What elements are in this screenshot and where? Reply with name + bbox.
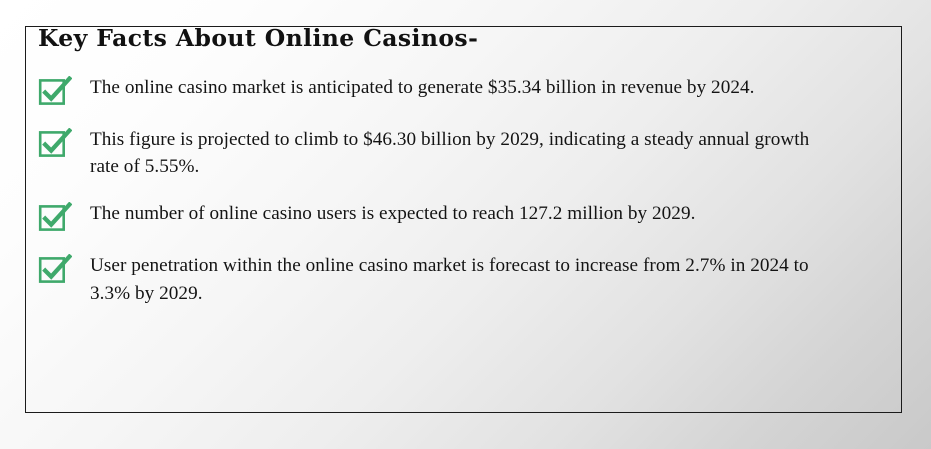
list-item: The online casino market is anticipated … bbox=[38, 74, 911, 106]
check-square-icon bbox=[38, 252, 90, 284]
fact-text: This figure is projected to climb to $46… bbox=[90, 126, 835, 181]
check-square-icon bbox=[38, 74, 90, 106]
facts-list: The online casino market is anticipated … bbox=[38, 74, 911, 307]
check-square-icon bbox=[38, 126, 90, 158]
page-title: Key Facts About Online Casinos- bbox=[38, 26, 911, 52]
list-item: The number of online casino users is exp… bbox=[38, 200, 911, 232]
fact-card-content: Key Facts About Online Casinos- The onli… bbox=[38, 26, 911, 307]
infographic-canvas: Key Facts About Online Casinos- The onli… bbox=[0, 0, 931, 449]
list-item: User penetration within the online casin… bbox=[38, 252, 911, 307]
list-item: This figure is projected to climb to $46… bbox=[38, 126, 911, 181]
check-square-icon bbox=[38, 200, 90, 232]
fact-text: The online casino market is anticipated … bbox=[90, 74, 754, 101]
fact-text: User penetration within the online casin… bbox=[90, 252, 835, 307]
fact-text: The number of online casino users is exp… bbox=[90, 200, 695, 227]
